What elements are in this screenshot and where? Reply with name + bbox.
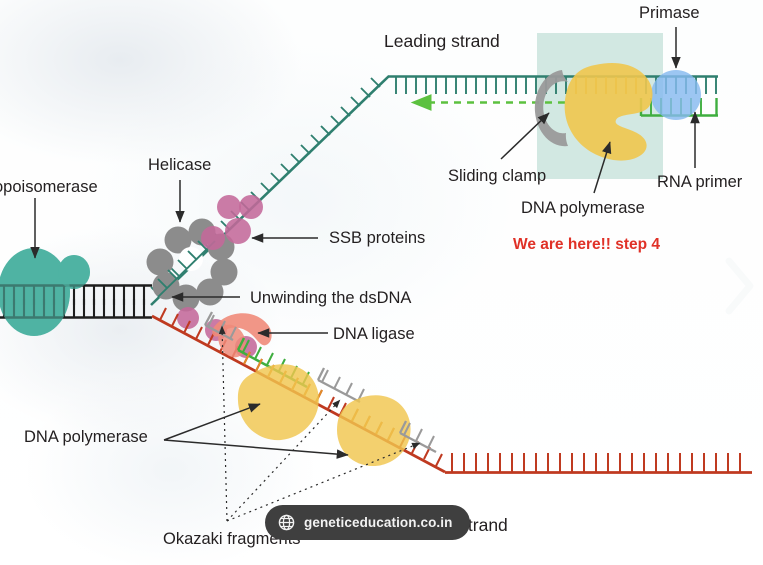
label-topoisomerase: opoisomerase bbox=[0, 178, 98, 196]
watermark-badge[interactable]: geneticeducation.co.in bbox=[265, 505, 470, 540]
label-leading-strand: Leading strand bbox=[384, 32, 500, 51]
figure-canvas: opoisomerase Helicase SSB proteins Unwin… bbox=[0, 0, 763, 565]
arrow-polymerase-b bbox=[164, 440, 348, 455]
label-dna-polymerase-lagging: DNA polymerase bbox=[24, 428, 148, 446]
okazaki-fragment-grey-2 bbox=[318, 368, 364, 402]
watermark-text: geneticeducation.co.in bbox=[304, 515, 452, 530]
label-dna-polymerase-leading: DNA polymerase bbox=[521, 199, 645, 217]
step-annotation: We are here!! step 4 bbox=[513, 236, 660, 253]
label-helicase: Helicase bbox=[148, 156, 211, 174]
label-sliding-clamp: Sliding clamp bbox=[448, 167, 546, 185]
primase-protein bbox=[651, 70, 701, 120]
label-dna-ligase: DNA ligase bbox=[333, 325, 415, 343]
parental-dsdna bbox=[0, 248, 152, 336]
globe-icon bbox=[278, 514, 295, 531]
label-unwinding-dsdna: Unwinding the dsDNA bbox=[250, 289, 411, 307]
replication-fork-illustration bbox=[0, 0, 763, 565]
dna-polymerase-lagging-2 bbox=[337, 395, 411, 466]
label-primase: Primase bbox=[639, 4, 700, 22]
chevron-right-icon[interactable] bbox=[723, 255, 757, 317]
dna-polymerase-lagging-1 bbox=[238, 364, 319, 440]
label-ssb-proteins: SSB proteins bbox=[329, 229, 425, 247]
label-rna-primer: RNA primer bbox=[657, 173, 742, 191]
